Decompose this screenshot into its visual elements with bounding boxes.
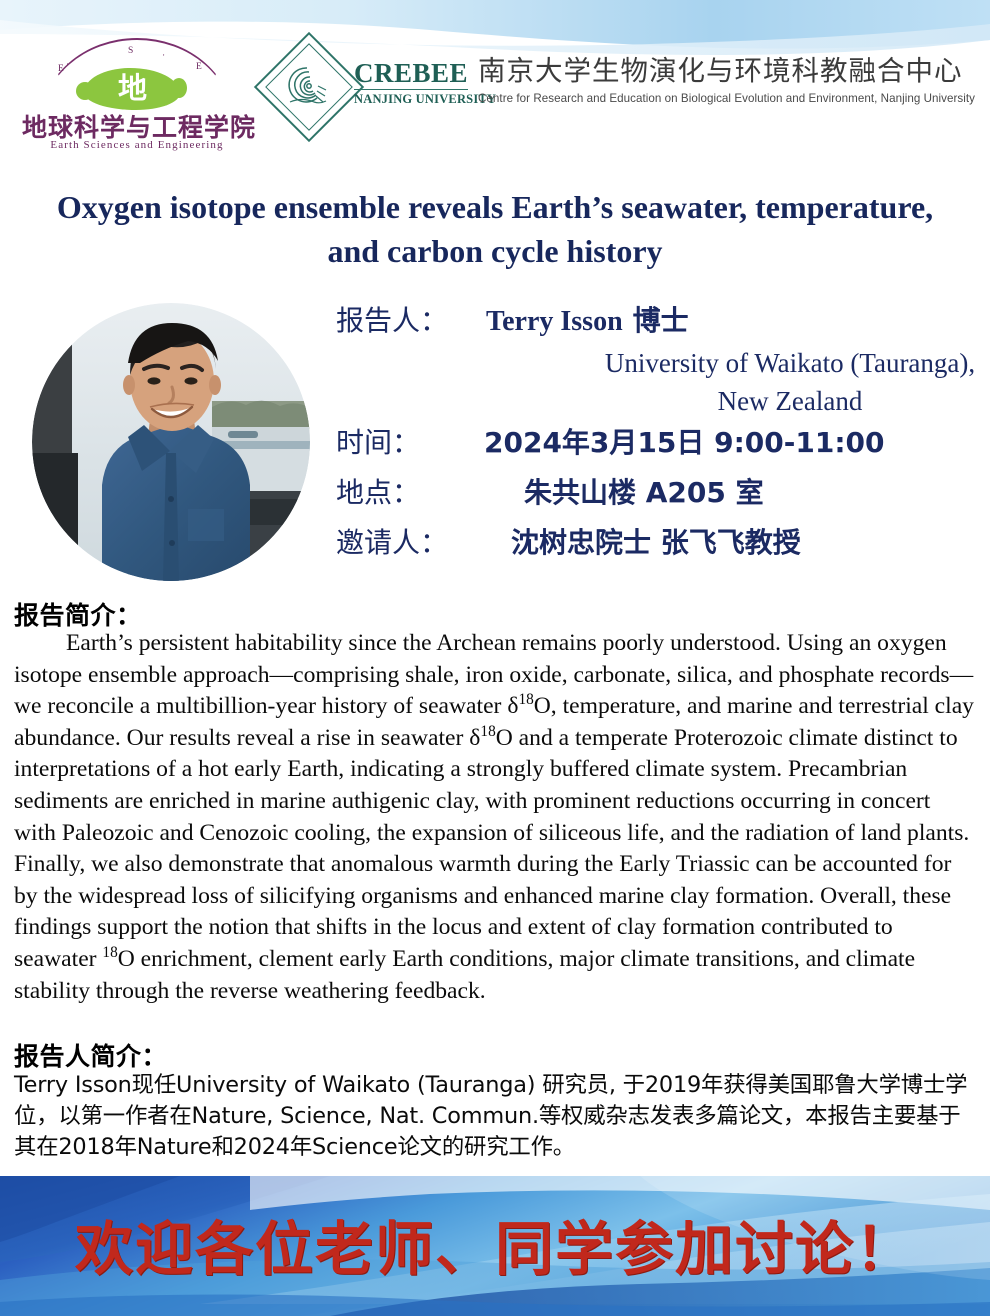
ese-letter-2: S	[128, 46, 134, 56]
ese-letter-1: E	[58, 64, 65, 74]
abstract-text-4: O enrichment, clement early Earth condit…	[14, 946, 915, 1004]
bio-body: Terry Isson现任University of Waikato (Taur…	[14, 1070, 976, 1163]
place-row: 地点： 朱共山楼 A205 室	[336, 470, 984, 520]
ese-earth-glyph: 地	[84, 66, 180, 110]
banner-text: 欢迎各位老师、同学参加讨论！	[0, 1202, 990, 1286]
centre-name-block: 南京大学生物演化与环境科教融合中心 Centre for Research an…	[478, 54, 983, 105]
centre-chinese-name: 南京大学生物演化与环境科教融合中心	[478, 54, 983, 88]
speaker-label: 报告人：	[336, 298, 486, 344]
affiliation-line-1: University of Waikato (Tauranga),	[336, 344, 990, 382]
page-title: Oxygen isotope ensemble reveals Earth’s …	[45, 185, 945, 273]
time-row: 时间： 2024年3月15日 9:00-11:00	[336, 420, 984, 470]
ese-logo: E · S · E 地 地球科学与工程学院 Earth Sciences and…	[22, 38, 252, 168]
speaker-row: 报告人： Terry Isson 博士	[336, 298, 984, 344]
abstract-heading: 报告简介：	[14, 596, 142, 632]
place-value: 朱共山楼 A205 室	[484, 470, 764, 516]
abstract-sup-3: 18	[102, 944, 117, 961]
affiliation-line-2: New Zealand	[336, 382, 990, 420]
crebee-logo: CREBEE NANJING UNIVERSITY	[270, 44, 470, 140]
crebee-wordmark-group: CREBEE NANJING UNIVERSITY	[354, 58, 470, 107]
abstract-text-3: O and a temperate Proterozoic climate di…	[14, 725, 969, 972]
crebee-divider	[354, 89, 468, 90]
bottom-banner: 欢迎各位老师、同学参加讨论！	[0, 1176, 990, 1316]
header: E · S · E 地 地球科学与工程学院 Earth Sciences and…	[0, 28, 990, 168]
crebee-subtitle: NANJING UNIVERSITY	[354, 92, 470, 107]
abstract-sup-2: 18	[480, 723, 495, 740]
speaker-photo	[32, 303, 310, 581]
ammonite-icon	[282, 60, 332, 110]
speaker-name: Terry Isson	[486, 299, 623, 345]
ese-letter-3: E	[196, 62, 203, 72]
host-label: 邀请人：	[336, 520, 511, 566]
ese-dot-2: ·	[162, 51, 166, 61]
place-label: 地点：	[336, 470, 484, 516]
host-row: 邀请人： 沈树忠院士 张飞飞教授	[336, 520, 984, 570]
ese-dot-1: ·	[66, 60, 70, 70]
host-value: 沈树忠院士 张飞飞教授	[511, 520, 801, 566]
poster: E · S · E 地 地球科学与工程学院 Earth Sciences and…	[0, 0, 990, 1316]
event-info: 报告人： Terry Isson 博士 University of Waikat…	[336, 298, 984, 570]
time-label: 时间：	[336, 420, 484, 466]
bio-heading: 报告人简介：	[14, 1037, 167, 1073]
ese-english-name: Earth Sciences and Engineering	[22, 139, 252, 151]
abstract-sup-1: 18	[518, 691, 533, 708]
crebee-wordmark: CREBEE	[354, 58, 470, 88]
centre-english-name: Centre for Research and Education on Bio…	[478, 92, 983, 105]
abstract-body: Earth’s persistent habitability since th…	[14, 628, 976, 1007]
speaker-title: 博士	[623, 298, 689, 344]
time-value: 2024年3月15日 9:00-11:00	[484, 420, 885, 466]
